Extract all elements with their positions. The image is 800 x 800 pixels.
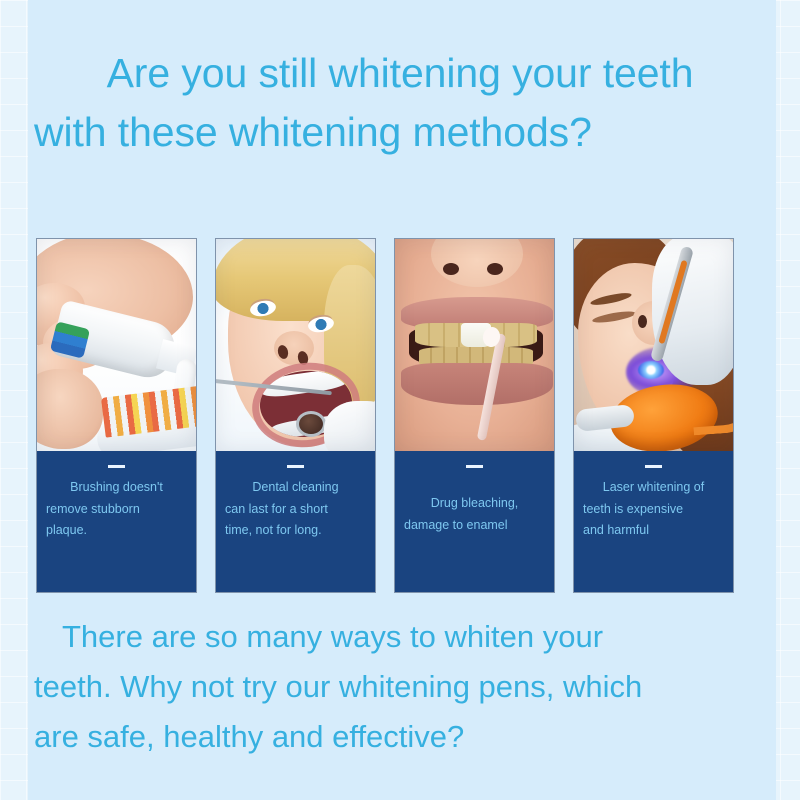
drug-bleaching-photo — [395, 239, 554, 451]
footer-line-3: are safe, healthy and effective? — [34, 712, 774, 762]
caption-text: Laser whitening of teeth is expensive an… — [583, 477, 724, 542]
method-card-dental-cleaning[interactable]: Dental cleaning can last for a short tim… — [215, 238, 376, 593]
caption-line: remove stubborn — [46, 499, 187, 521]
caption-divider-icon — [108, 465, 125, 468]
caption-line: plaque. — [46, 520, 187, 542]
promo-banner: Are you still whitening your teeth with … — [0, 0, 800, 800]
caption-line: Drug bleaching, — [404, 493, 545, 515]
footer-line-2: teeth. Why not try our whitening pens, w… — [34, 662, 774, 712]
caption-line: damage to enamel — [404, 515, 545, 537]
caption-line: Dental cleaning — [225, 477, 366, 499]
toothpaste-on-toothbrush-photo — [37, 239, 196, 451]
method-card-brushing[interactable]: Brushing doesn't remove stubborn plaque. — [36, 238, 197, 593]
headline-line-1: Are you still whitening your teeth — [0, 44, 800, 103]
headline: Are you still whitening your teeth with … — [0, 44, 800, 163]
footer-line-1: There are so many ways to whiten your — [34, 612, 774, 662]
footer-message: There are so many ways to whiten your te… — [34, 612, 774, 763]
card-caption: Brushing doesn't remove stubborn plaque. — [37, 451, 196, 592]
laser-whitening-photo — [574, 239, 733, 451]
caption-text: Drug bleaching, damage to enamel — [404, 493, 545, 536]
card-caption: Laser whitening of teeth is expensive an… — [574, 451, 733, 592]
caption-divider-icon — [645, 465, 662, 468]
caption-line: Brushing doesn't — [46, 477, 187, 499]
card-caption: Drug bleaching, damage to enamel — [395, 451, 554, 592]
dental-cleaning-photo — [216, 239, 375, 451]
method-card-laser-whitening[interactable]: Laser whitening of teeth is expensive an… — [573, 238, 734, 593]
method-card-drug-bleaching[interactable]: Drug bleaching, damage to enamel — [394, 238, 555, 593]
card-caption: Dental cleaning can last for a short tim… — [216, 451, 375, 592]
caption-line: time, not for long. — [225, 520, 366, 542]
caption-divider-icon — [466, 465, 483, 468]
caption-divider-icon — [287, 465, 304, 468]
caption-line: Laser whitening of — [583, 477, 724, 499]
caption-line: and harmful — [583, 520, 724, 542]
caption-text: Brushing doesn't remove stubborn plaque. — [46, 477, 187, 542]
headline-line-2: with these whitening methods? — [0, 103, 800, 162]
method-card-row: Brushing doesn't remove stubborn plaque. — [36, 238, 776, 593]
caption-line: teeth is expensive — [583, 499, 724, 521]
caption-line: can last for a short — [225, 499, 366, 521]
caption-text: Dental cleaning can last for a short tim… — [225, 477, 366, 542]
